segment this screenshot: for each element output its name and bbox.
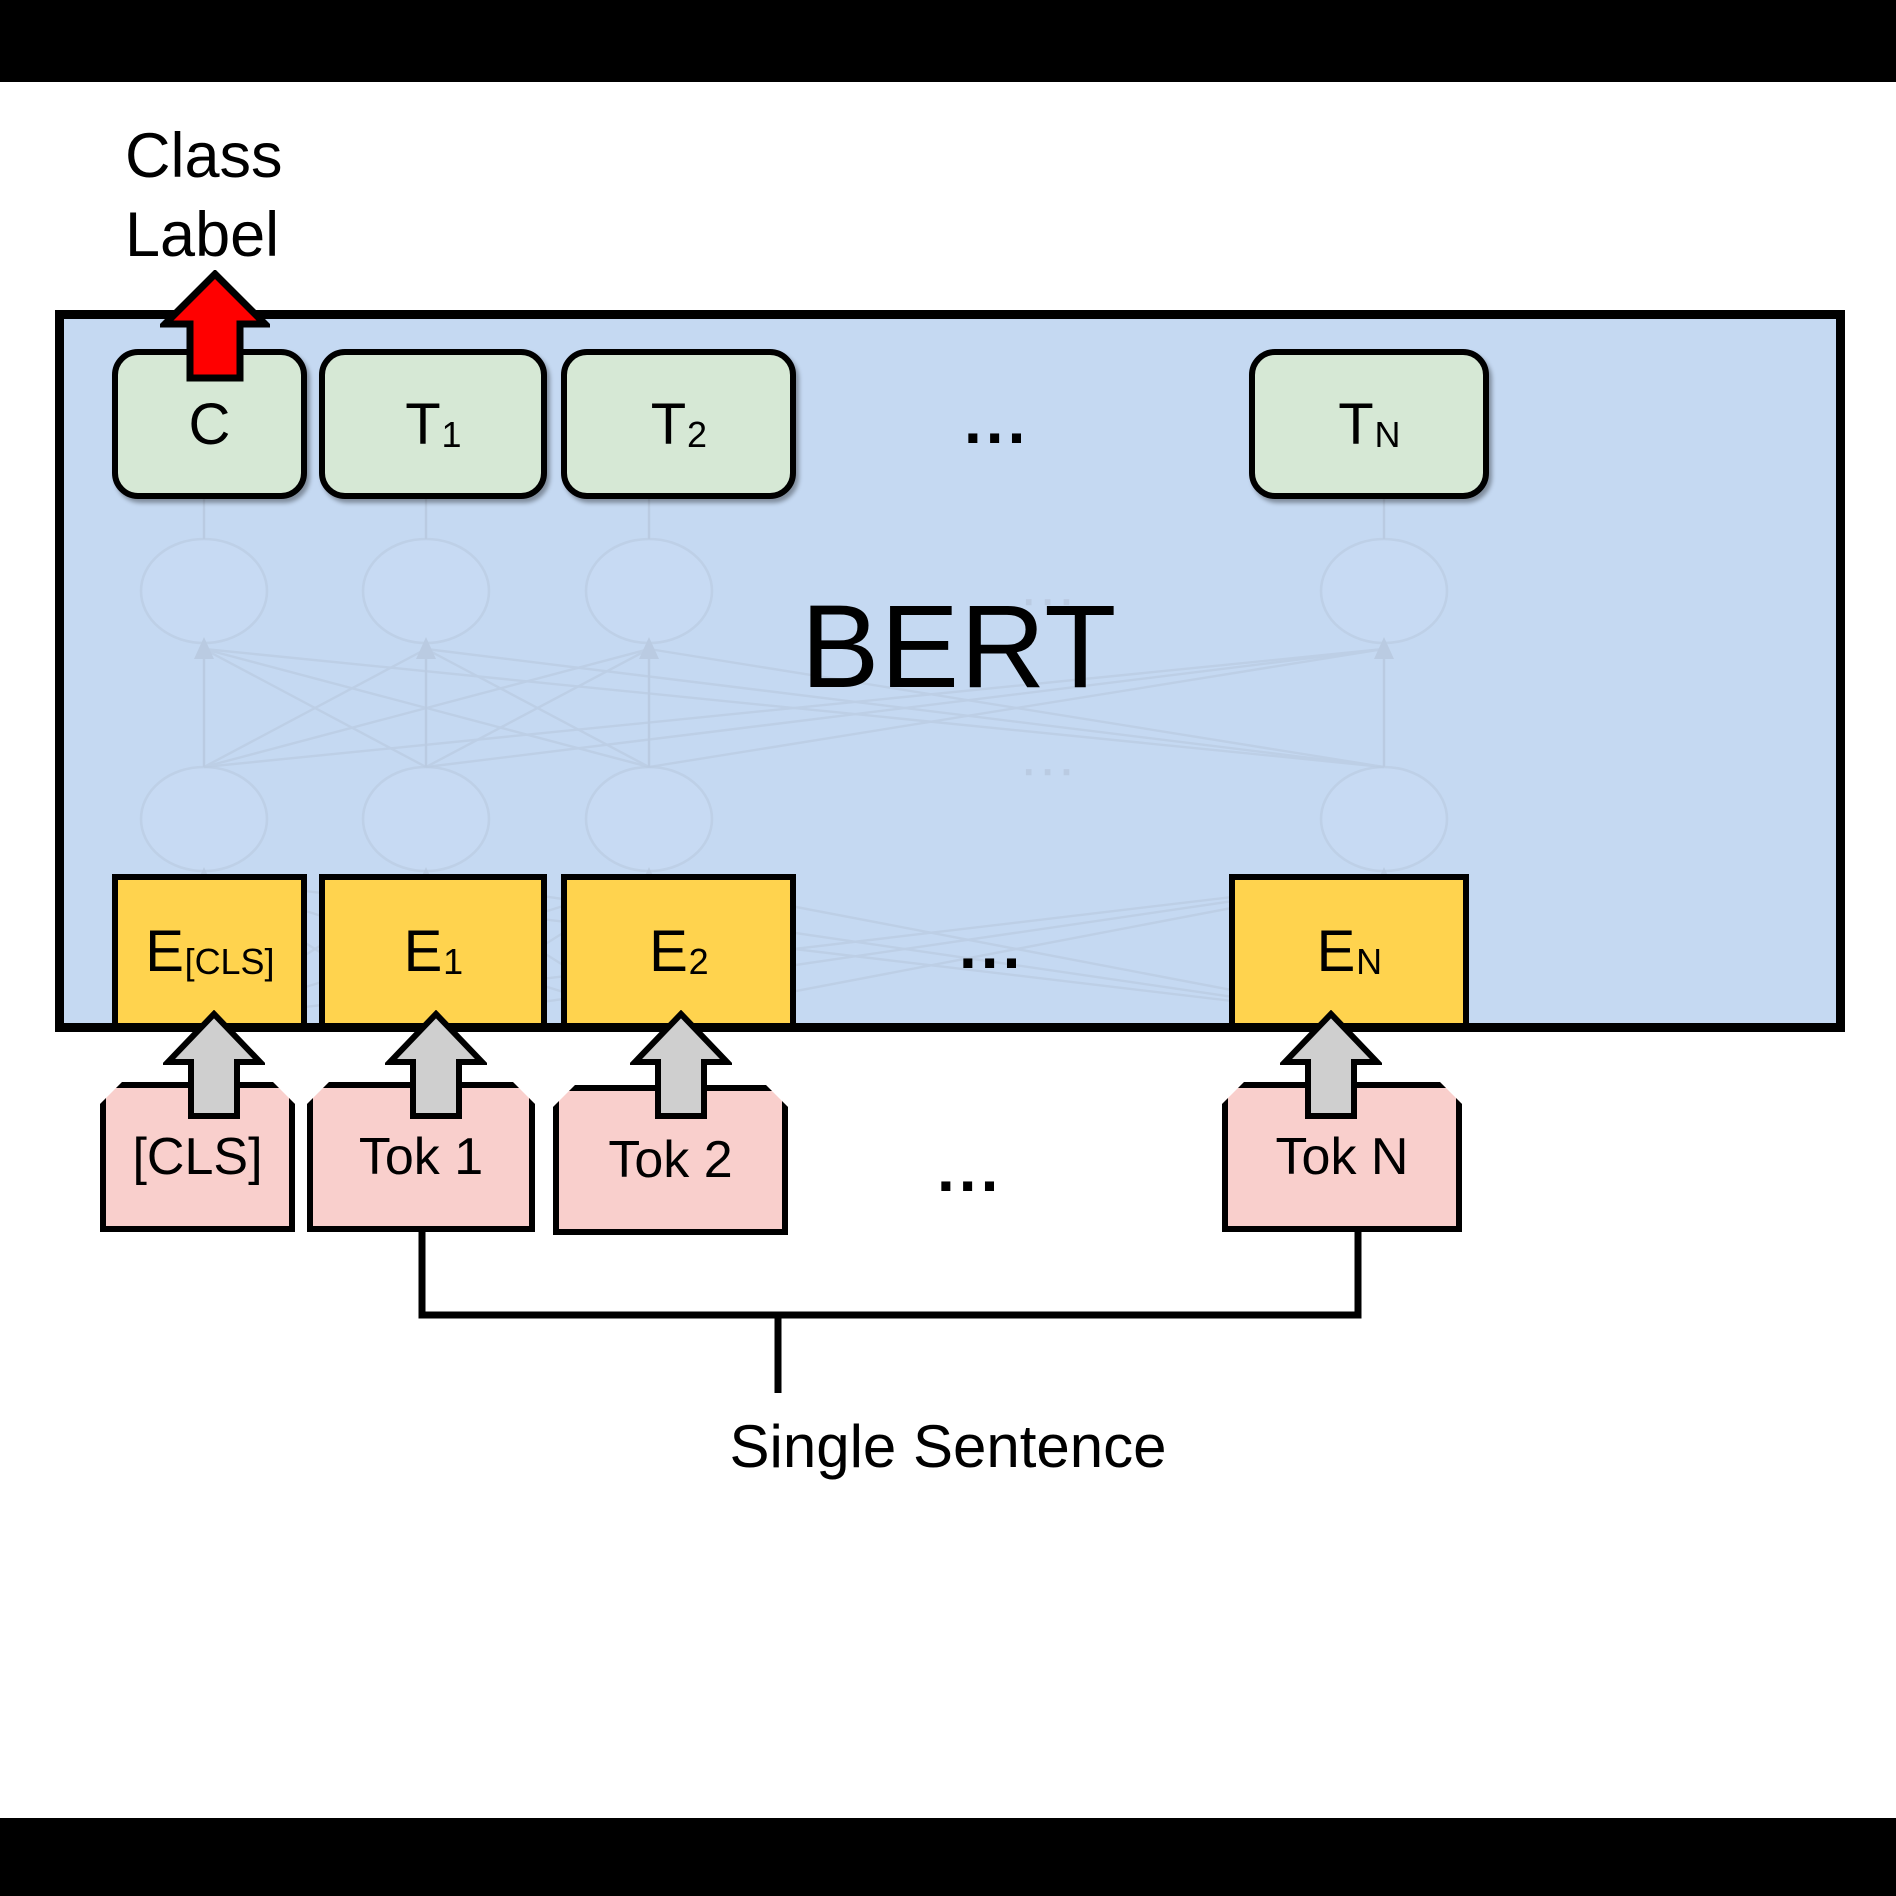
svg-text:. . .: . . .: [1024, 744, 1071, 782]
class-label-text: Class Label: [125, 117, 525, 275]
sentence-bracket-connector: [400, 1227, 1400, 1407]
embedding-box-e2[interactable]: E2: [561, 874, 796, 1029]
token-box-cls-label: [CLS]: [132, 1127, 262, 1187]
output-box-tn-base: T: [1338, 391, 1373, 458]
embedding-box-e2-sub: 2: [689, 941, 709, 983]
input-arrow-tok1-icon: [385, 1010, 487, 1122]
sentence-caption: Single Sentence: [0, 1412, 1896, 1481]
bert-model-label: BERT: [64, 579, 1845, 715]
output-box-t2-sub: 2: [687, 414, 707, 456]
embedding-box-en-sub: N: [1356, 941, 1382, 983]
top-letterbox-band: [0, 0, 1896, 82]
output-box-c-label: C: [189, 391, 231, 458]
output-box-t1-base: T: [405, 391, 440, 458]
token-box-tok2-label: Tok 2: [608, 1130, 732, 1190]
token-box-tok1-label: Tok 1: [359, 1127, 483, 1187]
input-arrow-tok2-icon: [630, 1010, 732, 1122]
embedding-layer-ellipsis: ...: [959, 914, 1024, 978]
embedding-box-cls[interactable]: E[CLS]: [112, 874, 307, 1029]
embedding-box-en-base: E: [1317, 918, 1356, 985]
output-box-t1-sub: 1: [441, 414, 461, 456]
embedding-box-cls-base: E: [145, 918, 184, 985]
output-box-tn-sub: N: [1374, 414, 1400, 456]
output-layer-ellipsis: ...: [964, 389, 1029, 453]
output-box-t2[interactable]: T2: [561, 349, 796, 499]
output-box-t2-base: T: [651, 391, 686, 458]
bert-encoder-block: . . . . . . BERT C T1 T2 TN ...: [55, 310, 1845, 1032]
input-arrow-tokn-icon: [1280, 1010, 1382, 1122]
token-box-tokn-label: Tok N: [1276, 1127, 1409, 1187]
token-layer-ellipsis: ...: [937, 1137, 1002, 1201]
output-box-tn[interactable]: TN: [1249, 349, 1489, 499]
embedding-box-cls-sub: [CLS]: [185, 941, 275, 983]
figure-area: Class Label: [0, 82, 1896, 1818]
bottom-letterbox-band: [0, 1818, 1896, 1896]
output-box-t1[interactable]: T1: [319, 349, 547, 499]
diagram-canvas: Class Label: [0, 0, 1896, 1896]
embedding-box-e1-sub: 1: [443, 941, 463, 983]
embedding-box-e2-base: E: [649, 918, 688, 985]
class-label-arrow-icon: [160, 270, 270, 382]
embedding-box-e1[interactable]: E1: [319, 874, 547, 1029]
embedding-box-en[interactable]: EN: [1229, 874, 1469, 1029]
embedding-box-e1-base: E: [404, 918, 443, 985]
input-arrow-cls-icon: [163, 1010, 265, 1122]
